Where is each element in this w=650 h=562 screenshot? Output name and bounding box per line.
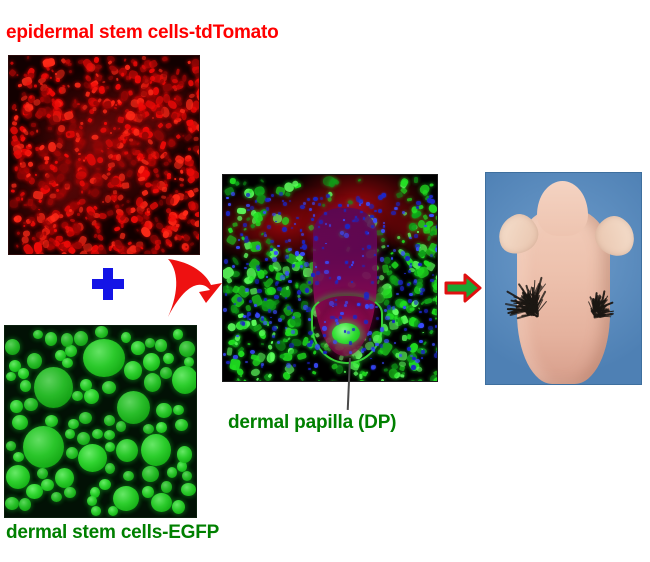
red-cell	[142, 189, 150, 197]
red-cell	[155, 174, 160, 179]
red-cell	[128, 154, 132, 159]
dapi-nucleus	[387, 245, 389, 247]
red-cell	[131, 215, 139, 223]
green-spheroid	[177, 446, 192, 462]
red-cell	[188, 147, 192, 151]
green-spheroid	[84, 389, 99, 404]
red-cell	[179, 183, 184, 186]
dapi-nucleus	[226, 197, 228, 200]
dapi-nucleus	[311, 218, 314, 221]
dapi-nucleus	[421, 357, 423, 359]
dapi-nucleus	[308, 281, 311, 284]
dapi-nucleus	[232, 265, 235, 268]
dapi-nucleus	[362, 255, 364, 257]
dapi-nucleus	[288, 239, 291, 242]
green-spheroid	[45, 332, 58, 345]
red-cell	[12, 183, 17, 187]
green-spheroid	[156, 422, 167, 432]
dapi-nucleus	[324, 212, 327, 215]
dapi-nucleus	[266, 207, 269, 210]
dapi-nucleus	[265, 258, 269, 261]
dapi-nucleus	[228, 203, 231, 206]
dapi-nucleus	[274, 295, 278, 299]
red-cell	[78, 198, 87, 205]
red-cell	[152, 167, 159, 174]
red-cell	[162, 187, 168, 192]
red-cell	[179, 177, 184, 181]
dapi-nucleus	[427, 198, 431, 203]
dapi-nucleus	[378, 195, 383, 200]
red-cell	[151, 117, 153, 120]
dapi-nucleus	[420, 292, 423, 295]
dapi-nucleus	[310, 340, 313, 344]
dermal-papilla-label: dermal papilla (DP)	[228, 412, 396, 434]
dapi-nucleus	[296, 217, 298, 220]
green-spheroid	[179, 341, 194, 357]
red-cell	[182, 234, 191, 243]
red-cell	[113, 190, 118, 194]
dapi-nucleus	[340, 231, 344, 235]
red-cell	[161, 248, 165, 253]
dapi-nucleus	[380, 327, 384, 332]
dapi-nucleus	[285, 271, 289, 275]
dapi-nucleus	[421, 350, 424, 353]
red-cell	[117, 193, 124, 200]
green-spheroid	[74, 331, 88, 346]
green-spheroid	[68, 419, 78, 430]
green-spheroid	[105, 463, 115, 474]
hair-tuft-right	[579, 295, 613, 327]
dapi-nucleus	[264, 234, 267, 237]
red-cell	[94, 57, 99, 63]
green-spheroid	[33, 330, 43, 340]
green-spheroid	[145, 338, 155, 348]
dapi-nucleus	[408, 299, 412, 303]
dapi-nucleus	[236, 335, 238, 337]
dapi-nucleus	[360, 211, 363, 214]
dapi-nucleus	[271, 194, 274, 197]
green-spheroid	[27, 353, 42, 369]
red-cell	[22, 231, 29, 237]
red-cell	[54, 229, 57, 232]
red-cell	[17, 231, 21, 235]
red-cell	[101, 150, 105, 154]
dapi-nucleus	[382, 362, 385, 364]
dapi-nucleus	[396, 202, 400, 206]
dapi-nucleus	[414, 234, 417, 238]
red-cell	[93, 107, 97, 111]
red-cell	[103, 101, 112, 109]
red-cell	[119, 174, 126, 182]
green-spheroid	[37, 468, 48, 479]
dapi-nucleus	[392, 306, 396, 309]
dapi-nucleus	[366, 202, 370, 205]
dapi-nucleus	[236, 246, 239, 249]
dapi-nucleus	[225, 293, 227, 296]
dapi-nucleus	[334, 303, 338, 306]
dapi-nucleus	[371, 281, 374, 285]
dapi-nucleus	[375, 343, 378, 347]
dapi-nucleus	[285, 297, 287, 299]
dapi-nucleus	[343, 219, 345, 221]
dapi-nucleus	[250, 350, 255, 354]
dapi-nucleus	[416, 247, 420, 251]
dapi-nucleus	[419, 311, 421, 313]
green-spheroid	[23, 426, 64, 469]
dapi-nucleus	[359, 204, 361, 206]
dapi-nucleus	[410, 263, 412, 265]
dapi-nucleus	[316, 271, 320, 275]
dapi-nucleus	[394, 342, 396, 345]
dapi-nucleus	[224, 259, 228, 264]
dapi-nucleus	[315, 281, 319, 284]
dapi-nucleus	[307, 362, 310, 365]
red-cell	[102, 81, 106, 84]
red-cell	[184, 245, 187, 248]
dapi-nucleus	[302, 240, 305, 243]
dapi-nucleus	[288, 248, 292, 252]
red-cell	[194, 137, 199, 141]
dapi-nucleus	[308, 368, 312, 371]
dapi-nucleus	[237, 297, 242, 302]
dapi-nucleus	[332, 306, 334, 308]
dapi-nucleus	[407, 283, 410, 286]
dapi-nucleus	[280, 275, 285, 281]
dapi-nucleus	[362, 348, 365, 351]
dapi-nucleus	[267, 225, 271, 230]
green-spheroid	[95, 326, 108, 338]
green-spheroid	[55, 468, 74, 488]
red-cell	[117, 160, 125, 168]
dapi-nucleus	[322, 247, 324, 249]
dapi-nucleus	[308, 318, 311, 321]
red-cell	[184, 196, 189, 200]
dapi-nucleus	[351, 264, 353, 267]
red-cell	[128, 90, 133, 96]
green-spheroid	[79, 412, 92, 424]
dapi-nucleus	[428, 326, 433, 331]
green-spheroid	[143, 353, 160, 370]
dapi-nucleus	[368, 331, 372, 335]
red-cell	[194, 68, 200, 79]
dapi-nucleus	[398, 280, 403, 286]
red-cell	[56, 173, 66, 183]
dapi-nucleus	[270, 240, 274, 243]
green-spheroid	[173, 405, 183, 416]
dapi-nucleus	[282, 227, 287, 232]
dapi-nucleus	[255, 200, 258, 203]
dapi-nucleus	[254, 304, 257, 307]
dapi-nucleus	[283, 202, 287, 206]
dapi-nucleus	[329, 224, 331, 227]
dapi-nucleus	[344, 330, 346, 333]
dapi-nucleus	[371, 225, 374, 228]
red-cell	[190, 242, 195, 246]
green-spheroid	[87, 496, 97, 506]
red-cell	[55, 160, 59, 164]
red-cell	[77, 102, 80, 104]
green-spheroid	[155, 339, 168, 352]
dapi-nucleus	[345, 224, 349, 229]
red-cell	[17, 171, 26, 180]
dapi-nucleus	[408, 270, 411, 273]
dapi-nucleus	[347, 331, 350, 334]
green-spheroid	[92, 429, 103, 439]
red-cell	[105, 86, 109, 90]
green-spheroid	[141, 434, 171, 466]
red-cell	[83, 159, 85, 162]
dapi-nucleus	[268, 309, 271, 313]
green-spheroid	[6, 372, 16, 382]
dapi-nucleus	[395, 207, 398, 210]
dapi-nucleus	[418, 263, 421, 266]
dapi-nucleus	[409, 293, 413, 296]
red-cell	[159, 199, 164, 205]
red-cell	[141, 245, 143, 246]
red-cell	[35, 174, 38, 176]
dapi-nucleus	[238, 239, 240, 241]
dapi-nucleus	[250, 206, 254, 210]
red-cell	[160, 140, 167, 149]
dapi-nucleus	[371, 365, 375, 370]
red-cell	[82, 190, 84, 193]
dapi-nucleus	[263, 211, 266, 213]
dapi-nucleus	[373, 349, 375, 351]
red-cell	[168, 140, 176, 148]
dapi-nucleus	[325, 261, 329, 265]
red-cell	[133, 62, 137, 67]
red-cell	[77, 213, 80, 216]
dapi-nucleus	[315, 266, 317, 268]
red-cell	[21, 198, 23, 201]
dapi-nucleus	[429, 214, 434, 218]
red-cell	[194, 211, 200, 217]
red-cell	[130, 159, 137, 166]
dapi-nucleus	[340, 312, 344, 316]
red-cell	[124, 59, 127, 62]
red-cell	[107, 209, 114, 215]
red-cell	[136, 228, 139, 231]
dapi-nucleus	[275, 282, 279, 286]
dapi-nucleus	[318, 226, 320, 228]
red-cell	[64, 153, 69, 158]
dapi-nucleus	[432, 343, 435, 346]
green-spheroid	[104, 430, 116, 441]
dapi-nucleus	[313, 197, 318, 201]
red-cell	[60, 252, 67, 255]
red-cell	[15, 74, 18, 77]
dapi-nucleus	[374, 210, 376, 212]
green-spheroid	[144, 373, 162, 392]
red-cell	[30, 204, 37, 211]
dapi-nucleus	[373, 218, 378, 223]
red-cell	[132, 148, 136, 152]
red-cell	[38, 208, 40, 210]
red-cell	[175, 134, 181, 140]
red-cell	[16, 244, 19, 247]
green-spheroid	[167, 467, 177, 477]
red-cell	[165, 122, 172, 129]
dapi-nucleus	[272, 335, 275, 338]
dapi-nucleus	[233, 355, 237, 359]
dapi-nucleus	[335, 299, 337, 301]
dapi-nucleus	[385, 316, 389, 320]
red-cell	[137, 142, 140, 145]
green-spheroid	[12, 415, 28, 431]
dapi-nucleus	[274, 251, 279, 255]
dapi-nucleus	[307, 198, 310, 201]
dapi-nucleus	[303, 202, 306, 205]
dapi-nucleus	[357, 303, 360, 306]
red-cell	[188, 80, 194, 87]
dapi-nucleus	[325, 243, 327, 245]
red-cell	[93, 177, 103, 186]
red-cell	[48, 199, 54, 206]
dapi-nucleus	[333, 340, 337, 344]
dapi-nucleus	[300, 265, 303, 269]
dapi-nucleus	[319, 220, 323, 224]
dapi-nucleus	[434, 353, 438, 358]
plus-vertical-bar	[103, 268, 113, 300]
dapi-nucleus	[304, 262, 308, 267]
red-cell	[95, 168, 99, 171]
red-cell	[120, 203, 124, 207]
red-cell	[112, 200, 114, 202]
red-cell	[27, 144, 31, 148]
dapi-nucleus	[270, 317, 272, 319]
red-cell	[21, 136, 27, 142]
dapi-nucleus	[275, 221, 277, 223]
green-spheroid	[51, 492, 62, 502]
dapi-nucleus	[362, 265, 365, 267]
dapi-nucleus	[312, 202, 314, 205]
red-cell	[197, 149, 200, 157]
dapi-nucleus	[324, 321, 326, 323]
green-spheroid	[160, 367, 172, 379]
dapi-nucleus	[249, 319, 251, 321]
red-cell	[106, 172, 111, 176]
dapi-nucleus	[314, 236, 318, 241]
red-cell	[85, 152, 97, 166]
red-cell	[152, 188, 158, 193]
red-cell	[90, 249, 99, 255]
dapi-nucleus	[223, 353, 226, 356]
red-cell	[114, 107, 117, 110]
dapi-nucleus	[336, 322, 339, 325]
red-cell	[33, 190, 45, 200]
red-cell	[168, 158, 172, 163]
dapi-nucleus	[356, 196, 361, 202]
dapi-nucleus	[289, 343, 294, 348]
red-cell	[9, 69, 17, 77]
red-cell	[46, 66, 50, 71]
green-spheroid	[161, 481, 172, 493]
green-spheroid	[173, 329, 184, 340]
dapi-nucleus	[309, 208, 312, 212]
curved-arrow-right-icon	[166, 256, 224, 320]
green-spheroid	[13, 452, 24, 462]
red-cell	[27, 161, 34, 168]
panel-epidermal-tdtomato	[8, 55, 200, 255]
green-spheroid	[163, 353, 174, 364]
red-cell	[10, 200, 18, 208]
red-cell	[27, 55, 30, 59]
red-cell	[124, 151, 128, 154]
dapi-nucleus	[246, 193, 251, 197]
dapi-nucleus	[243, 223, 247, 227]
green-spheroid	[45, 415, 58, 427]
red-cell	[58, 157, 64, 162]
dapi-nucleus	[392, 320, 395, 323]
green-spheroid	[6, 441, 17, 451]
red-cell	[168, 215, 176, 222]
dapi-nuclei-field	[223, 175, 437, 381]
dapi-nucleus	[349, 341, 352, 344]
dapi-nucleus	[291, 227, 293, 229]
dapi-nucleus	[414, 300, 418, 305]
red-cell	[87, 118, 93, 123]
dapi-nucleus	[302, 244, 307, 250]
dapi-nucleus	[339, 316, 342, 319]
red-cell	[142, 56, 146, 60]
dapi-nucleus	[279, 192, 284, 196]
dapi-nucleus	[226, 211, 231, 216]
red-cell	[21, 243, 23, 245]
red-cell	[108, 162, 116, 168]
dapi-nucleus	[223, 308, 227, 311]
red-cell	[155, 106, 164, 115]
dapi-nucleus	[403, 306, 407, 309]
red-cell	[102, 200, 105, 203]
dapi-nucleus	[402, 211, 405, 214]
green-spheroid	[78, 444, 107, 472]
dapi-nucleus	[300, 205, 305, 209]
red-cell	[116, 78, 119, 81]
green-spheroid	[156, 403, 172, 419]
dapi-nucleus	[314, 363, 318, 368]
dapi-nucleus	[407, 347, 411, 351]
dapi-nucleus	[291, 309, 294, 311]
red-cell	[34, 84, 37, 87]
dapi-nucleus	[285, 240, 288, 243]
dapi-nucleus	[344, 209, 346, 211]
dapi-nucleus	[265, 198, 269, 202]
dapi-nucleus	[405, 256, 410, 261]
dapi-nucleus	[292, 316, 295, 319]
red-cell	[15, 108, 18, 111]
dapi-nucleus	[297, 290, 301, 295]
green-spheroid	[172, 500, 185, 514]
dapi-nucleus	[384, 339, 389, 343]
red-cell	[185, 191, 189, 193]
dapi-nucleus	[318, 203, 321, 207]
green-spheroid	[142, 466, 159, 483]
green-spheroid	[123, 471, 133, 481]
green-spheroid	[10, 400, 23, 413]
dapi-nucleus	[432, 274, 434, 276]
red-cell	[72, 223, 80, 231]
dapi-nucleus	[261, 318, 264, 321]
dapi-nucleus	[242, 322, 245, 326]
red-cell	[77, 153, 80, 155]
red-cell	[96, 157, 104, 165]
dapi-nucleus	[374, 254, 376, 256]
green-spheroid	[102, 381, 117, 395]
dapi-nucleus	[289, 200, 291, 202]
dapi-nucleus	[320, 197, 323, 200]
green-spheroid	[66, 447, 78, 459]
red-cell	[174, 189, 178, 193]
